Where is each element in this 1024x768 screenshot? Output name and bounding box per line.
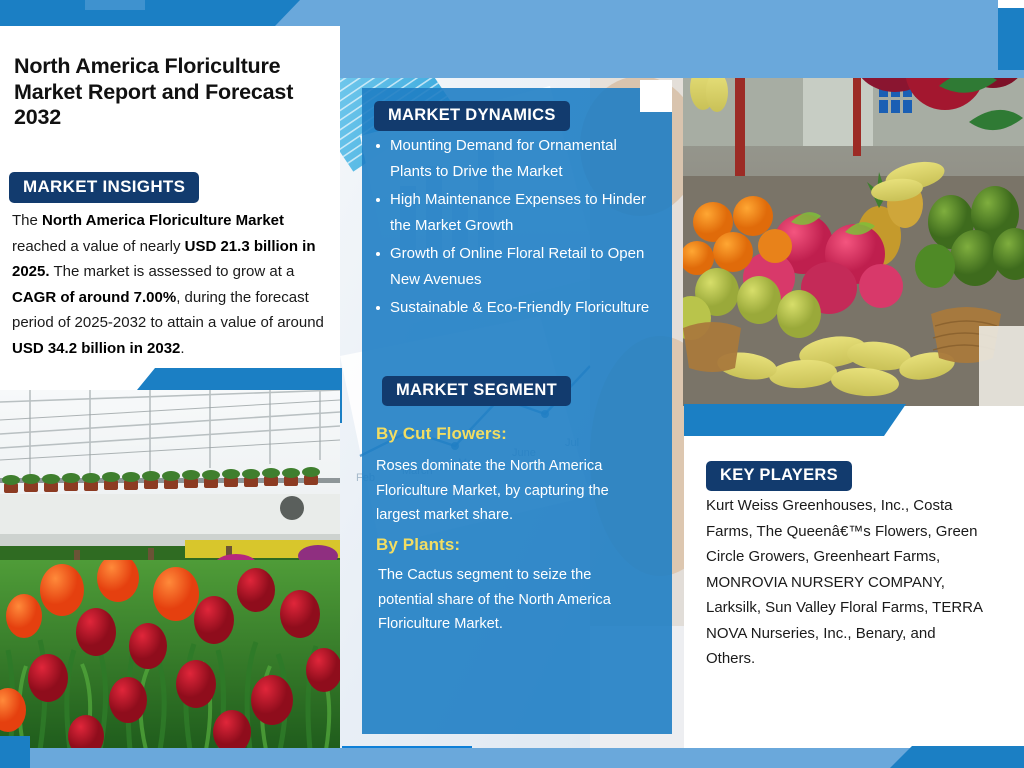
segment-heading-cut-flowers: By Cut Flowers:: [376, 424, 507, 444]
bottom-left-blue-square: [0, 736, 30, 768]
market-dynamics-badge: MARKET DYNAMICS: [374, 101, 570, 131]
center-panel-white-notch: [640, 80, 672, 112]
bottom-dark-parallelogram: [890, 746, 1024, 768]
tulip-field-photo: [0, 560, 340, 750]
key-players-badge: KEY PLAYERS: [706, 461, 852, 491]
fruit-vegetable-market-stall-photo: [683, 26, 1024, 406]
market-insights-badge: MARKET INSIGHTS: [9, 172, 199, 203]
list-item: Growth of Online Floral Retail to Open N…: [372, 241, 662, 292]
market-segment-badge: MARKET SEGMENT: [382, 376, 571, 406]
segment-body-cut-flowers: Roses dominate the North America Floricu…: [376, 454, 644, 528]
page-title: North America Floriculture Market Report…: [14, 54, 324, 131]
right-accent-banner: [684, 404, 906, 436]
bottom-light-band: [0, 748, 1024, 768]
market-insights-text: The North America Floriculture Market re…: [12, 208, 342, 361]
list-item: High Maintenance Expenses to Hinder the …: [372, 187, 662, 238]
list-item: Sustainable & Eco-Friendly Floriculture: [372, 295, 662, 321]
list-item: Mounting Demand for Ornamental Plants to…: [372, 133, 662, 184]
top-notch-accent: [85, 0, 145, 10]
segment-heading-plants: By Plants:: [376, 535, 460, 555]
top-right-blue-square: [998, 8, 1024, 70]
market-dynamics-list: Mounting Demand for Ornamental Plants to…: [372, 133, 662, 324]
infographic-page: FebMarch MayJune Jul: [0, 0, 1024, 768]
segment-body-plants: The Cactus segment to seize the potentia…: [378, 563, 646, 637]
key-players-text: Kurt Weiss Greenhouses, Inc., Costa Farm…: [706, 493, 986, 672]
